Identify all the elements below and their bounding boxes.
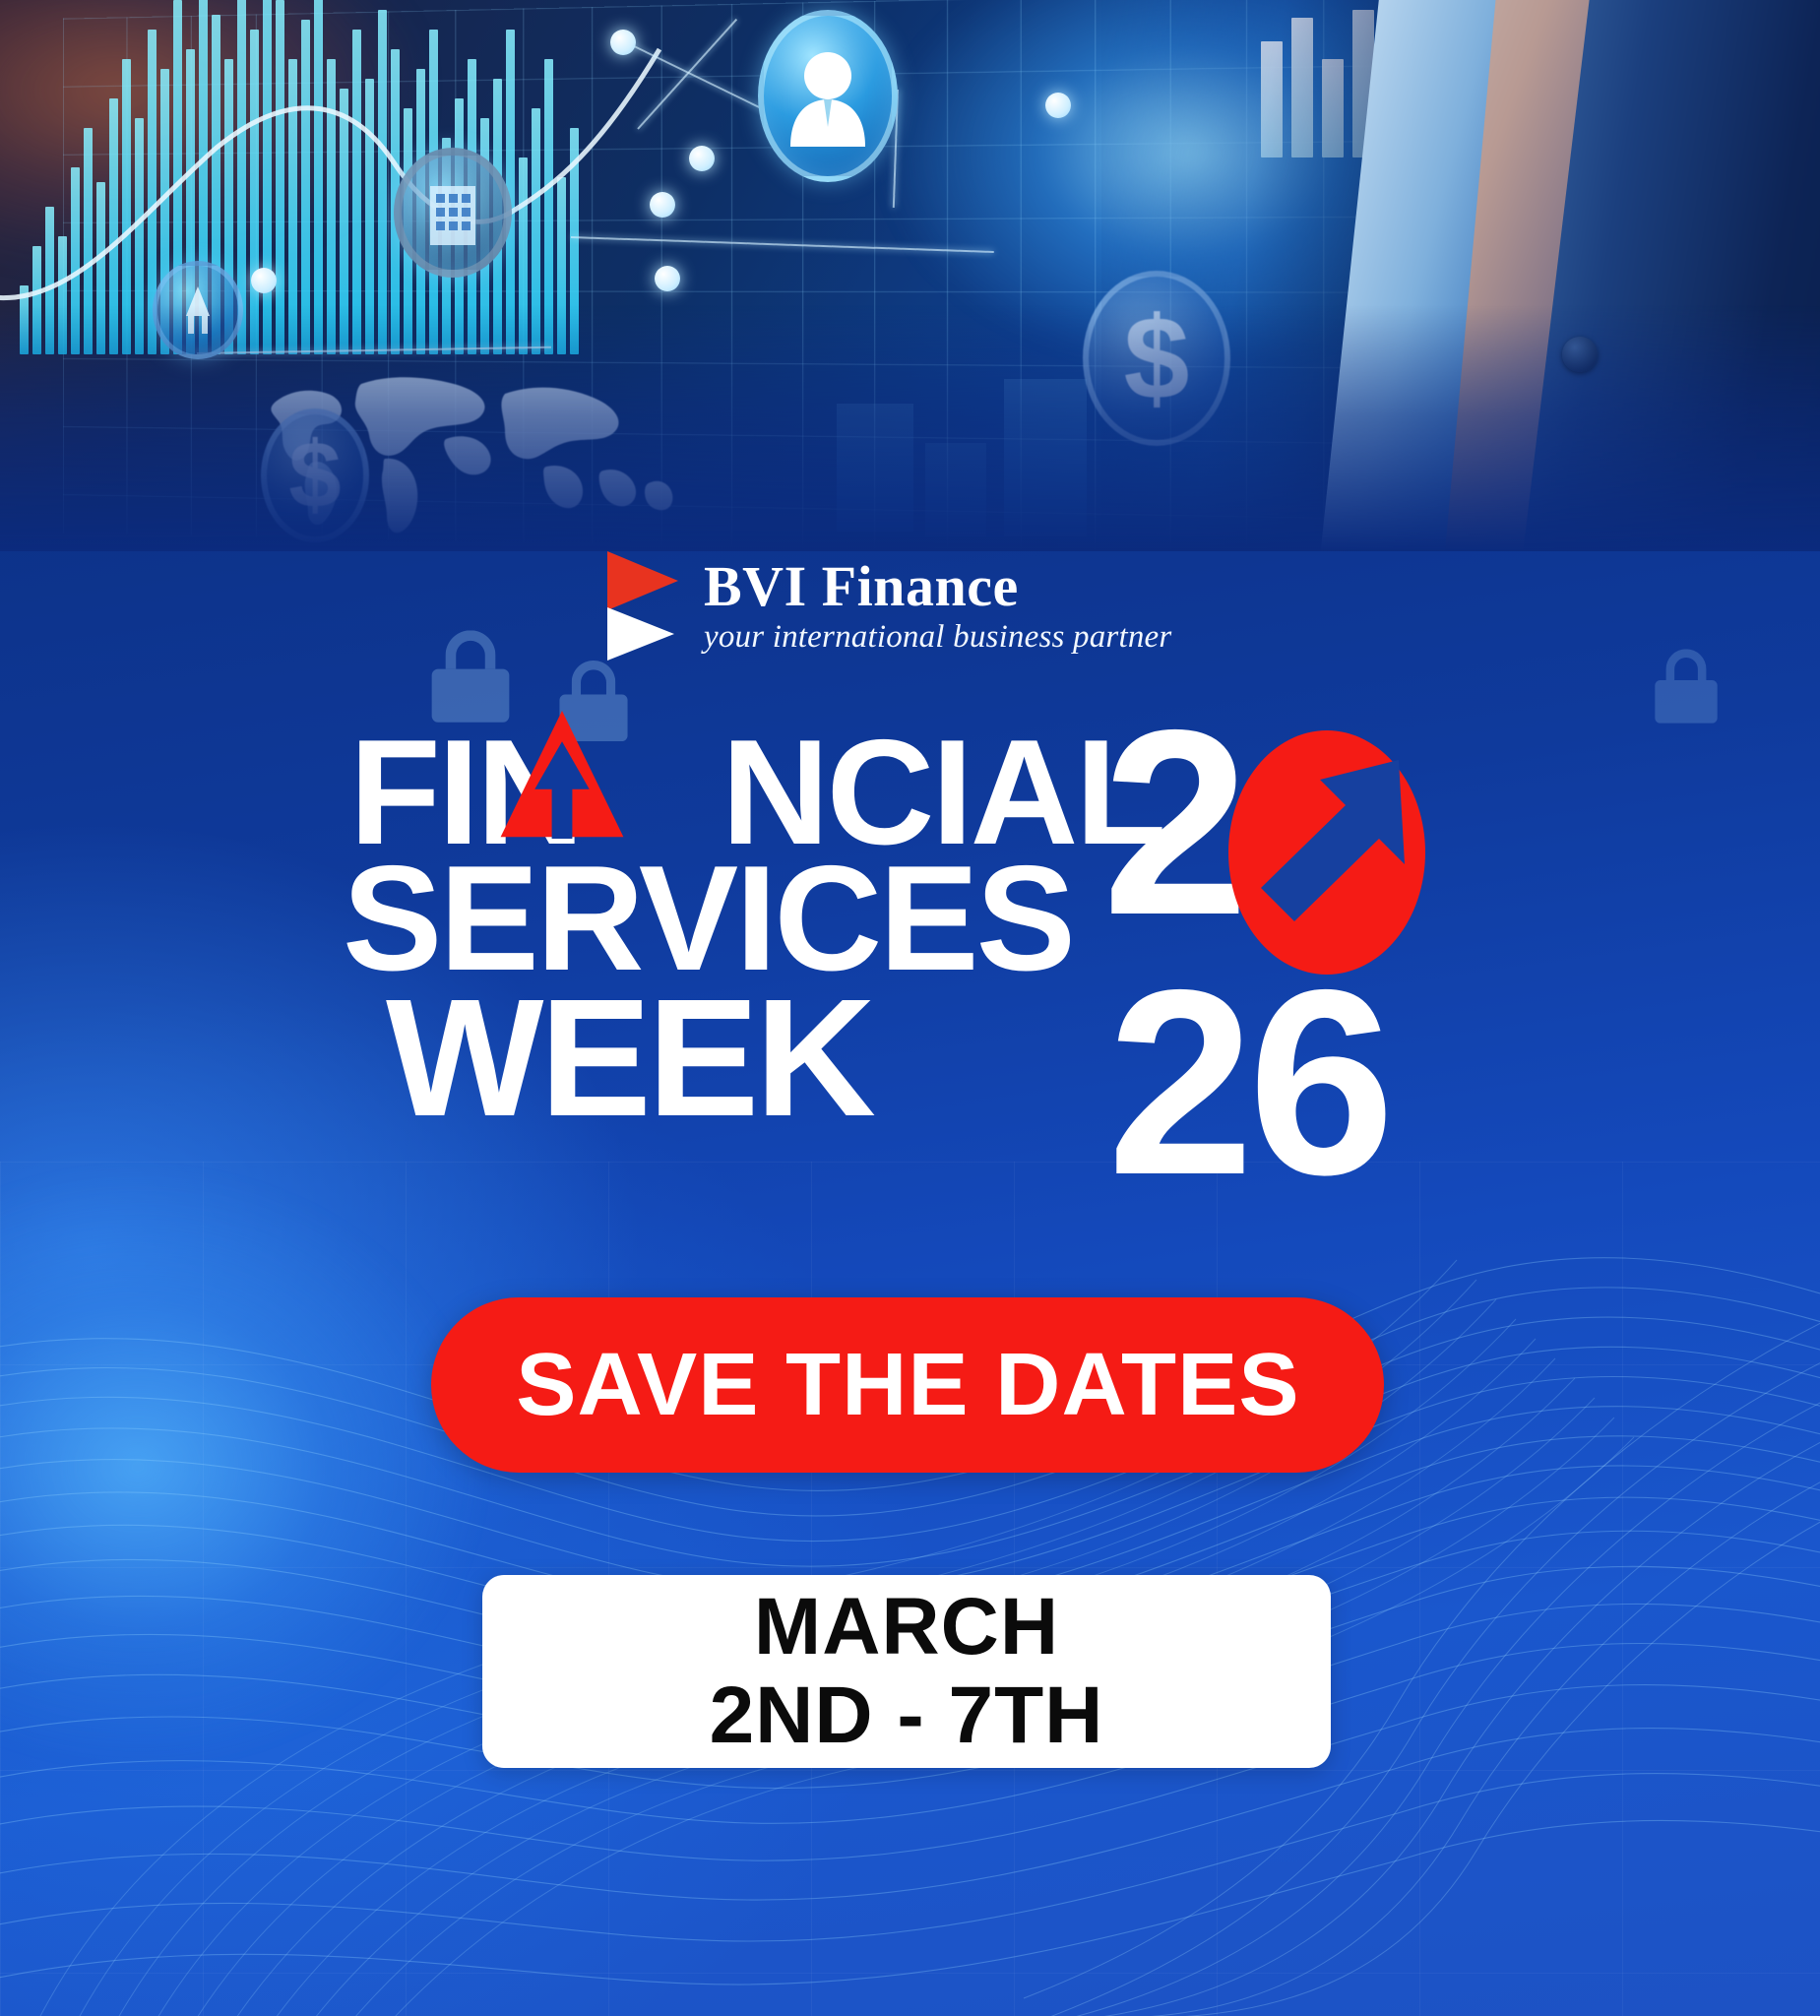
event-month: MARCH [754,1586,1059,1669]
network-node-dot [650,192,675,218]
hero-fade-overlay [0,305,1820,551]
year-digit-2: 2 [1102,715,1239,931]
network-node-dot [1045,93,1071,118]
network-node-dot [251,268,277,293]
year-top-20: 2 [1102,715,1239,931]
padlock-icon [1655,649,1717,723]
network-node-dot [610,30,636,55]
save-the-dates-button[interactable]: SAVE THE DATES [431,1297,1384,1473]
event-date-box: MARCH 2ND - 7TH [482,1575,1331,1768]
event-date-range: 2ND - 7TH [710,1674,1104,1757]
network-node-dot [655,266,680,291]
year-digits-26: 26 [1107,975,1389,1191]
bvi-finance-logo[interactable]: BVI Finance your international business … [607,551,1171,661]
double-triangle-flag-icon [607,551,684,661]
year-bottom-26: 26 [1107,975,1389,1191]
save-the-dates-label: SAVE THE DATES [516,1335,1299,1436]
hero-background-image: $ $ $ [0,0,1820,551]
title-line-3: WEEK [386,986,872,1130]
person-avatar-node-icon [758,10,898,182]
logo-tagline: your international business partner [704,619,1171,656]
title-line-3-text: WEEK [386,965,872,1152]
red-arrow-letter-a-icon [483,711,641,839]
office-building-node-icon [394,148,512,278]
network-node-dot [689,146,715,171]
event-poster: $ $ $ [0,0,1820,2016]
logo-title: BVI Finance [704,557,1171,615]
